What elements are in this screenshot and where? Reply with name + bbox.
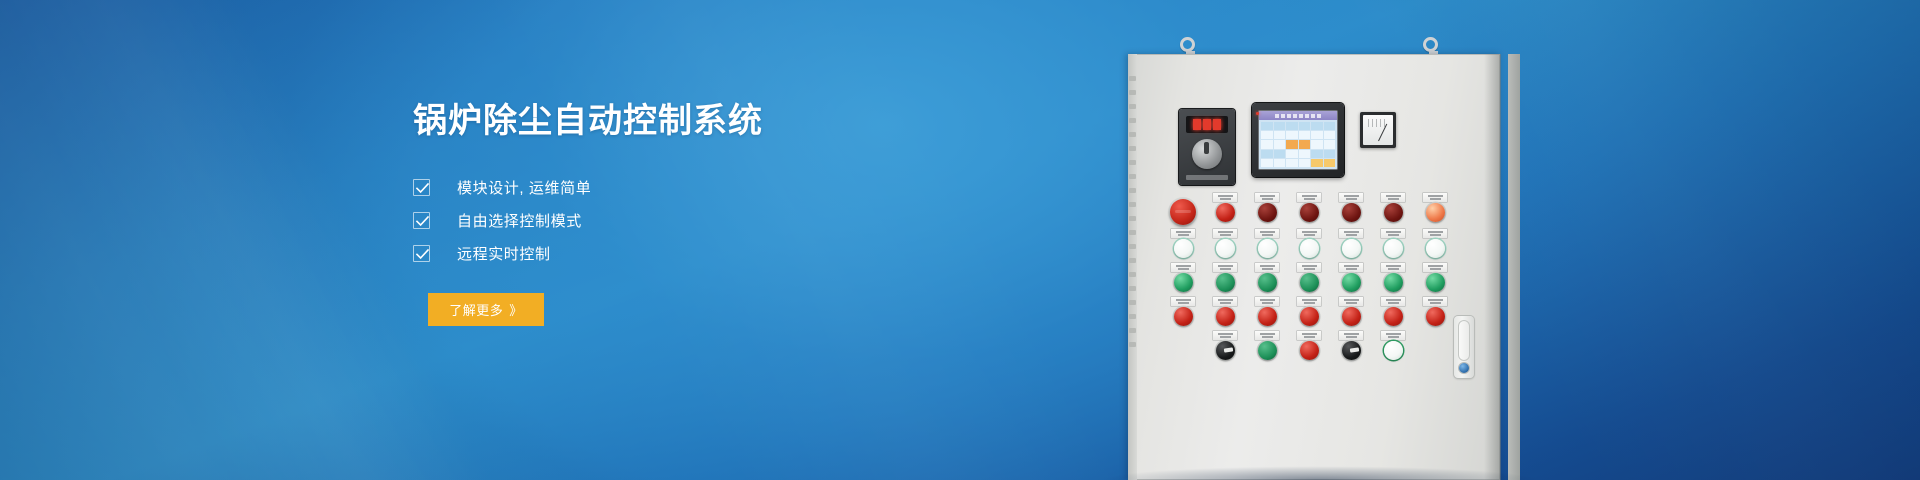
feature-list: 模块设计, 运维简单 自由选择控制模式 远程实时控制 <box>413 171 973 270</box>
indicator-lamp[interactable] <box>1216 203 1235 222</box>
vfd-digital-display <box>1186 116 1228 133</box>
indicator-lamp[interactable] <box>1258 307 1277 326</box>
indicator-lamp[interactable] <box>1300 203 1319 222</box>
selector-switch[interactable] <box>1216 341 1235 360</box>
list-item: 远程实时控制 <box>413 237 973 270</box>
lamp-label <box>1339 331 1363 340</box>
indicator-lamp[interactable] <box>1300 239 1319 258</box>
lamp-label <box>1297 331 1321 340</box>
lamp-label <box>1255 229 1279 238</box>
lamp-label <box>1297 193 1321 202</box>
indicator-lamp[interactable] <box>1300 273 1319 292</box>
indicator-lamp[interactable] <box>1258 273 1277 292</box>
lamp-label <box>1381 193 1405 202</box>
control-cabinet-image <box>1128 0 1508 480</box>
lamp-label <box>1297 297 1321 306</box>
lamp-label <box>1381 263 1405 272</box>
lamp-label <box>1213 193 1237 202</box>
indicator-lamp[interactable] <box>1342 203 1361 222</box>
lamp-label <box>1339 193 1363 202</box>
vfd-label-strip <box>1186 175 1228 180</box>
gauge-face <box>1363 115 1393 145</box>
lifting-eye-icon <box>1423 37 1438 52</box>
indicator-lamp[interactable] <box>1342 307 1361 326</box>
indicator-lamp[interactable] <box>1216 239 1235 258</box>
feature-label: 模块设计, 运维简单 <box>457 177 591 198</box>
indicator-lamp[interactable] <box>1384 239 1403 258</box>
lamp-label <box>1213 331 1237 340</box>
lamp-label <box>1381 297 1405 306</box>
vfd-controller[interactable] <box>1179 109 1235 185</box>
lamp-row <box>1208 334 1466 368</box>
hmi-title-bar <box>1259 111 1337 120</box>
lamp-row <box>1166 196 1466 232</box>
lamp-label <box>1339 297 1363 306</box>
handle-grip[interactable] <box>1458 320 1470 361</box>
learn-more-label: 了解更多 <box>449 300 503 319</box>
lamp-label <box>1255 263 1279 272</box>
cabinet-right-edge <box>1508 54 1520 480</box>
indicator-lamp[interactable] <box>1384 341 1403 360</box>
lamp-label <box>1171 263 1195 272</box>
lamp-label <box>1381 229 1405 238</box>
list-item: 自由选择控制模式 <box>413 204 973 237</box>
learn-more-button[interactable]: 了解更多 》 <box>428 293 544 326</box>
cabinet-door <box>1128 54 1500 480</box>
lamp-label <box>1213 297 1237 306</box>
selector-switch[interactable] <box>1342 341 1361 360</box>
indicator-lamp[interactable] <box>1258 341 1277 360</box>
analog-gauge <box>1360 112 1396 148</box>
indicator-lamp[interactable] <box>1300 307 1319 326</box>
cabinet-side-shading <box>1484 54 1501 480</box>
power-led-icon <box>1256 112 1259 115</box>
indicator-lamp[interactable] <box>1384 203 1403 222</box>
banner-copy: 锅炉除尘自动控制系统 模块设计, 运维简单 自由选择控制模式 <box>413 103 973 326</box>
lamp-label <box>1423 263 1447 272</box>
lamp-label <box>1213 263 1237 272</box>
emergency-stop-button[interactable] <box>1170 199 1196 225</box>
indicator-lamp[interactable] <box>1300 341 1319 360</box>
indicator-lamp[interactable] <box>1342 239 1361 258</box>
indicator-lamp[interactable] <box>1426 203 1445 222</box>
lamp-row <box>1166 300 1466 334</box>
indicator-lamp[interactable] <box>1174 239 1193 258</box>
indicator-lamp[interactable] <box>1426 239 1445 258</box>
indicator-lamp[interactable] <box>1426 273 1445 292</box>
checkbox-checked-icon <box>413 245 430 262</box>
indicator-lamp[interactable] <box>1426 307 1445 326</box>
lamp-label <box>1213 229 1237 238</box>
feature-label: 自由选择控制模式 <box>457 210 582 231</box>
lamp-label <box>1171 229 1195 238</box>
cabinet-floor-shadow <box>1100 466 1540 480</box>
list-item: 模块设计, 运维简单 <box>413 171 973 204</box>
indicator-lamp[interactable] <box>1384 273 1403 292</box>
indicator-lamp-grid <box>1166 196 1466 368</box>
lamp-label <box>1171 297 1195 306</box>
indicator-lamp[interactable] <box>1216 307 1235 326</box>
indicator-lamp[interactable] <box>1216 273 1235 292</box>
lamp-label <box>1339 263 1363 272</box>
hmi-touch-panel[interactable] <box>1252 103 1344 177</box>
indicator-lamp[interactable] <box>1258 203 1277 222</box>
page-title: 锅炉除尘自动控制系统 <box>413 103 973 140</box>
lamp-label <box>1255 297 1279 306</box>
indicator-lamp[interactable] <box>1384 307 1403 326</box>
lamp-label <box>1255 331 1279 340</box>
indicator-lamp[interactable] <box>1174 273 1193 292</box>
lamp-label <box>1339 229 1363 238</box>
lamp-row <box>1166 232 1466 266</box>
lock-icon[interactable] <box>1459 363 1469 373</box>
indicator-lamp[interactable] <box>1258 239 1277 258</box>
hmi-data-grid <box>1259 120 1337 169</box>
lamp-label <box>1381 331 1405 340</box>
indicator-lamp[interactable] <box>1174 307 1193 326</box>
door-handle[interactable] <box>1454 316 1474 378</box>
hero-banner: 锅炉除尘自动控制系统 模块设计, 运维简单 自由选择控制模式 <box>0 0 1920 480</box>
checkbox-checked-icon <box>413 179 430 196</box>
lamp-row <box>1166 266 1466 300</box>
vfd-rotary-knob[interactable] <box>1192 139 1222 169</box>
lamp-label <box>1423 229 1447 238</box>
lamp-label <box>1423 297 1447 306</box>
indicator-lamp[interactable] <box>1342 273 1361 292</box>
lamp-label <box>1255 193 1279 202</box>
cabinet-hinge-strip <box>1128 54 1137 480</box>
hmi-screen[interactable] <box>1259 111 1337 169</box>
feature-label: 远程实时控制 <box>457 243 551 264</box>
lamp-label <box>1423 193 1447 202</box>
double-chevron-right-icon: 》 <box>509 300 523 319</box>
lifting-eye-icon <box>1180 37 1195 52</box>
checkbox-checked-icon <box>413 212 430 229</box>
lamp-label <box>1297 229 1321 238</box>
lamp-label <box>1297 263 1321 272</box>
